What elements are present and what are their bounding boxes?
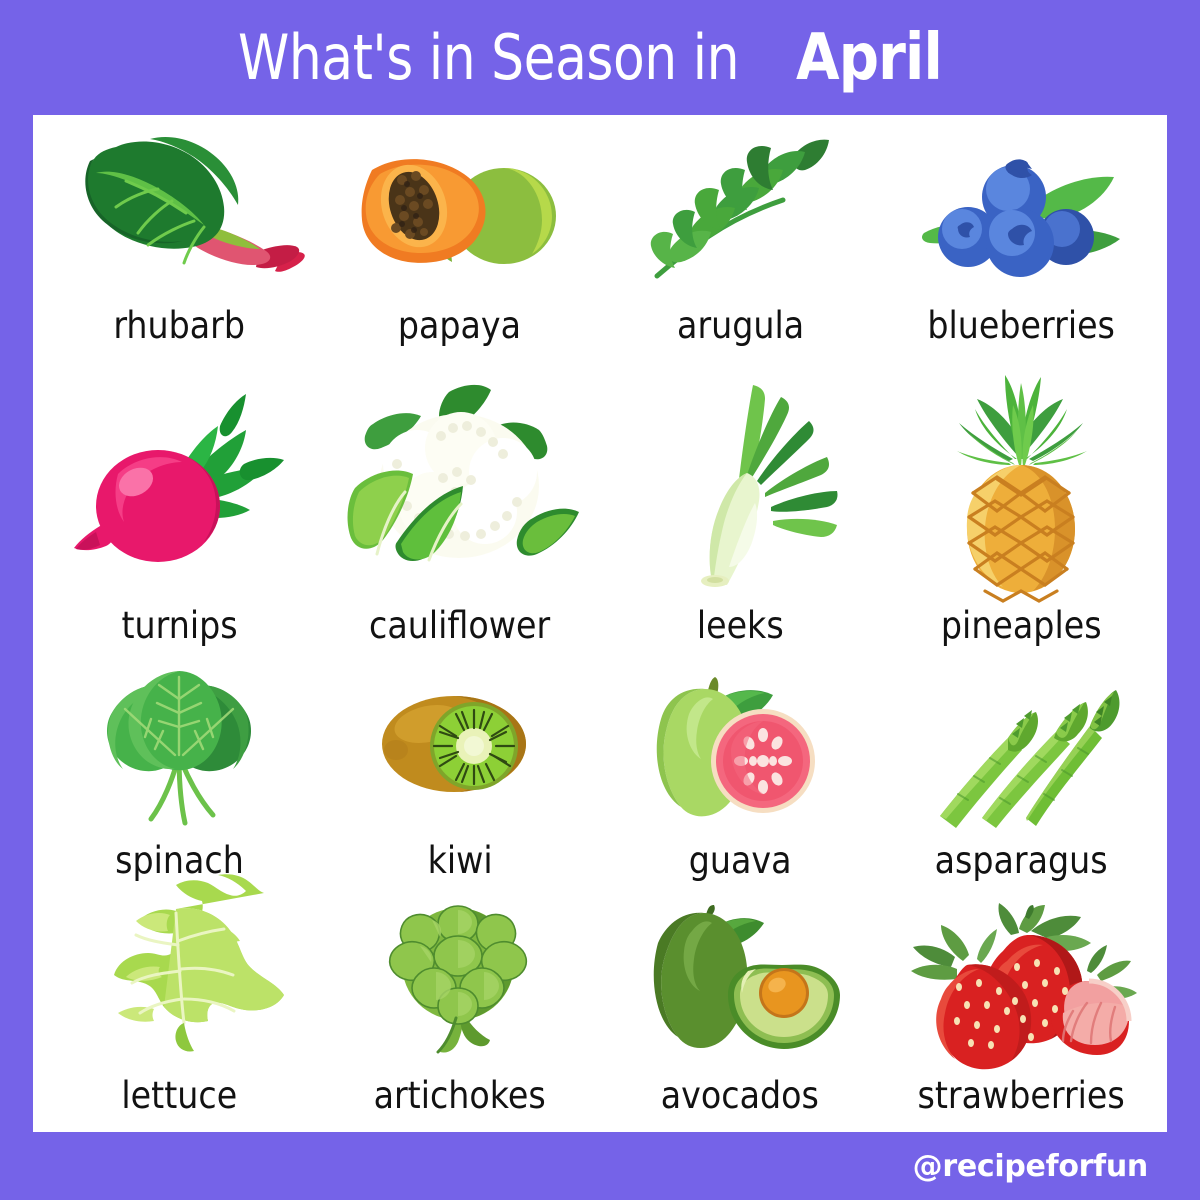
produce-cell-leeks[interactable]: leeks bbox=[600, 353, 881, 653]
produce-label: leeks bbox=[697, 603, 784, 649]
title-month-text: April bbox=[796, 21, 942, 95]
guava-illustration bbox=[600, 653, 881, 837]
produce-cell-cauliflower[interactable]: cauliflower bbox=[320, 353, 601, 653]
produce-cell-arugula[interactable]: arugula bbox=[600, 119, 881, 353]
lettuce-illustration bbox=[39, 888, 320, 1072]
produce-label: papaya bbox=[398, 303, 521, 349]
blueberries-illustration bbox=[881, 119, 1162, 303]
produce-cell-rhubarb[interactable]: rhubarb bbox=[39, 119, 320, 353]
produce-cell-blueberries[interactable]: blueberries bbox=[881, 119, 1162, 353]
produce-cell-spinach[interactable]: spinach bbox=[39, 653, 320, 887]
strawberries-illustration bbox=[881, 888, 1162, 1072]
arugula-illustration bbox=[600, 119, 881, 303]
produce-label: avocados bbox=[661, 1072, 819, 1118]
produce-label: blueberries bbox=[927, 303, 1114, 349]
produce-cell-kiwi[interactable]: kiwi bbox=[320, 653, 601, 887]
produce-label: guava bbox=[689, 838, 792, 884]
poster-header: What's in Season inApril bbox=[0, 0, 1200, 115]
avocados-illustration bbox=[600, 888, 881, 1072]
produce-cell-asparagus[interactable]: asparagus bbox=[881, 653, 1162, 887]
produce-cell-guava[interactable]: guava bbox=[600, 653, 881, 887]
produce-label: artichokes bbox=[374, 1072, 546, 1118]
produce-cell-artichokes[interactable]: artichokes bbox=[320, 888, 601, 1122]
leeks-illustration bbox=[600, 353, 881, 603]
turnips-illustration bbox=[39, 353, 320, 603]
title-main-text: What's in Season in bbox=[238, 21, 739, 94]
social-handle[interactable]: @recipeforfun bbox=[913, 1149, 1148, 1184]
kiwi-illustration bbox=[320, 653, 601, 837]
produce-cell-papaya[interactable]: papaya bbox=[320, 119, 601, 353]
produce-grid: rhubarb bbox=[33, 115, 1167, 1132]
poster-footer: @recipeforfun bbox=[0, 1132, 1200, 1200]
poster-root: What's in Season inApril bbox=[0, 0, 1200, 1200]
pineapple-illustration bbox=[881, 353, 1162, 603]
spinach-illustration bbox=[39, 653, 320, 837]
produce-label: turnips bbox=[121, 603, 237, 649]
produce-label: cauliflower bbox=[369, 603, 550, 649]
produce-cell-avocados[interactable]: avocados bbox=[600, 888, 881, 1122]
produce-label: rhubarb bbox=[113, 303, 245, 349]
page-title: What's in Season inApril bbox=[238, 21, 963, 95]
produce-cell-turnips[interactable]: turnips bbox=[39, 353, 320, 653]
artichoke-illustration bbox=[320, 888, 601, 1072]
produce-label: arugula bbox=[677, 303, 804, 349]
produce-cell-strawberries[interactable]: strawberries bbox=[881, 888, 1162, 1122]
produce-cell-pineaples[interactable]: pineaples bbox=[881, 353, 1162, 653]
papaya-illustration bbox=[320, 119, 601, 303]
produce-label: kiwi bbox=[427, 838, 492, 884]
produce-label: pineaples bbox=[940, 603, 1101, 649]
asparagus-illustration bbox=[881, 653, 1162, 837]
produce-label: spinach bbox=[115, 838, 244, 884]
produce-label: asparagus bbox=[934, 838, 1107, 884]
produce-cell-lettuce[interactable]: lettuce bbox=[39, 888, 320, 1122]
produce-label: lettuce bbox=[121, 1072, 237, 1118]
cauliflower-illustration bbox=[320, 353, 601, 603]
produce-label: strawberries bbox=[917, 1072, 1124, 1118]
rhubarb-illustration bbox=[39, 119, 320, 303]
